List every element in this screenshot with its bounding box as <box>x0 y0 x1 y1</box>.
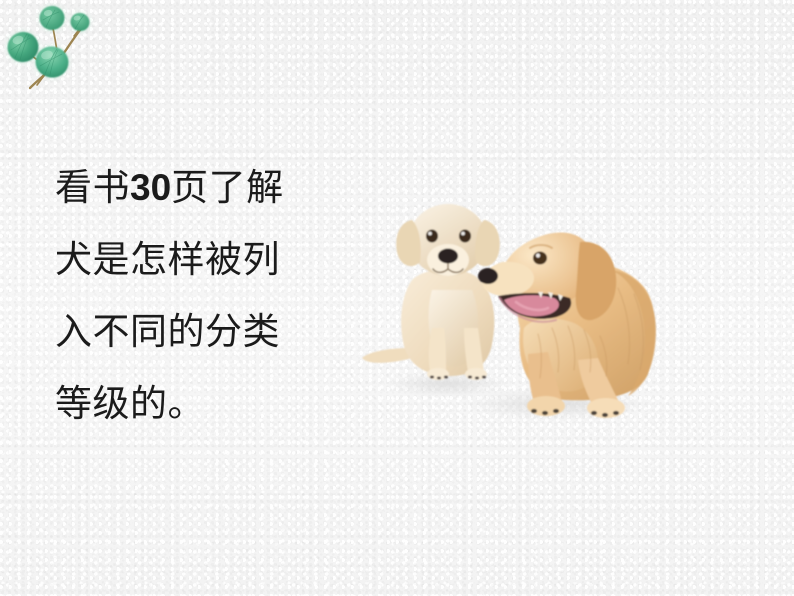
golden-retriever-adult <box>478 233 656 418</box>
body-text-line-1: 看书30页了解 <box>55 152 345 224</box>
leaf-shapes <box>4 5 91 80</box>
slide-canvas: 看书30页了解 犬是怎样被列 入不同的分类 等级的。 <box>0 0 794 596</box>
body-text-line-4: 等级的。 <box>55 368 345 440</box>
body-text-line-1-suffix: 页了解 <box>171 167 284 208</box>
adult-eye <box>533 252 547 265</box>
body-text-line-3: 入不同的分类 <box>55 296 345 368</box>
puppy-tail <box>362 348 412 363</box>
leaf-veins <box>11 10 84 75</box>
puppy-nose <box>438 249 458 264</box>
puppy-eye-right <box>459 230 471 243</box>
puppy-eye-left <box>426 230 438 243</box>
golden-retrievers-photo <box>352 178 662 430</box>
body-text-line-1-prefix: 看书 <box>55 167 130 208</box>
golden-retriever-puppy <box>362 204 500 380</box>
puppy-front-leg-left <box>429 328 446 372</box>
adult-nose <box>478 268 498 284</box>
leaf-highlights <box>11 9 80 60</box>
body-text-line-2: 犬是怎样被列 <box>55 224 345 296</box>
slide-body-text: 看书30页了解 犬是怎样被列 入不同的分类 等级的。 <box>55 152 345 440</box>
eucalyptus-leaf-sprig-decoration <box>0 0 98 98</box>
leaf-glow <box>7 5 90 78</box>
leaf-stems <box>26 24 84 88</box>
page-number-highlight: 30 <box>130 167 171 208</box>
